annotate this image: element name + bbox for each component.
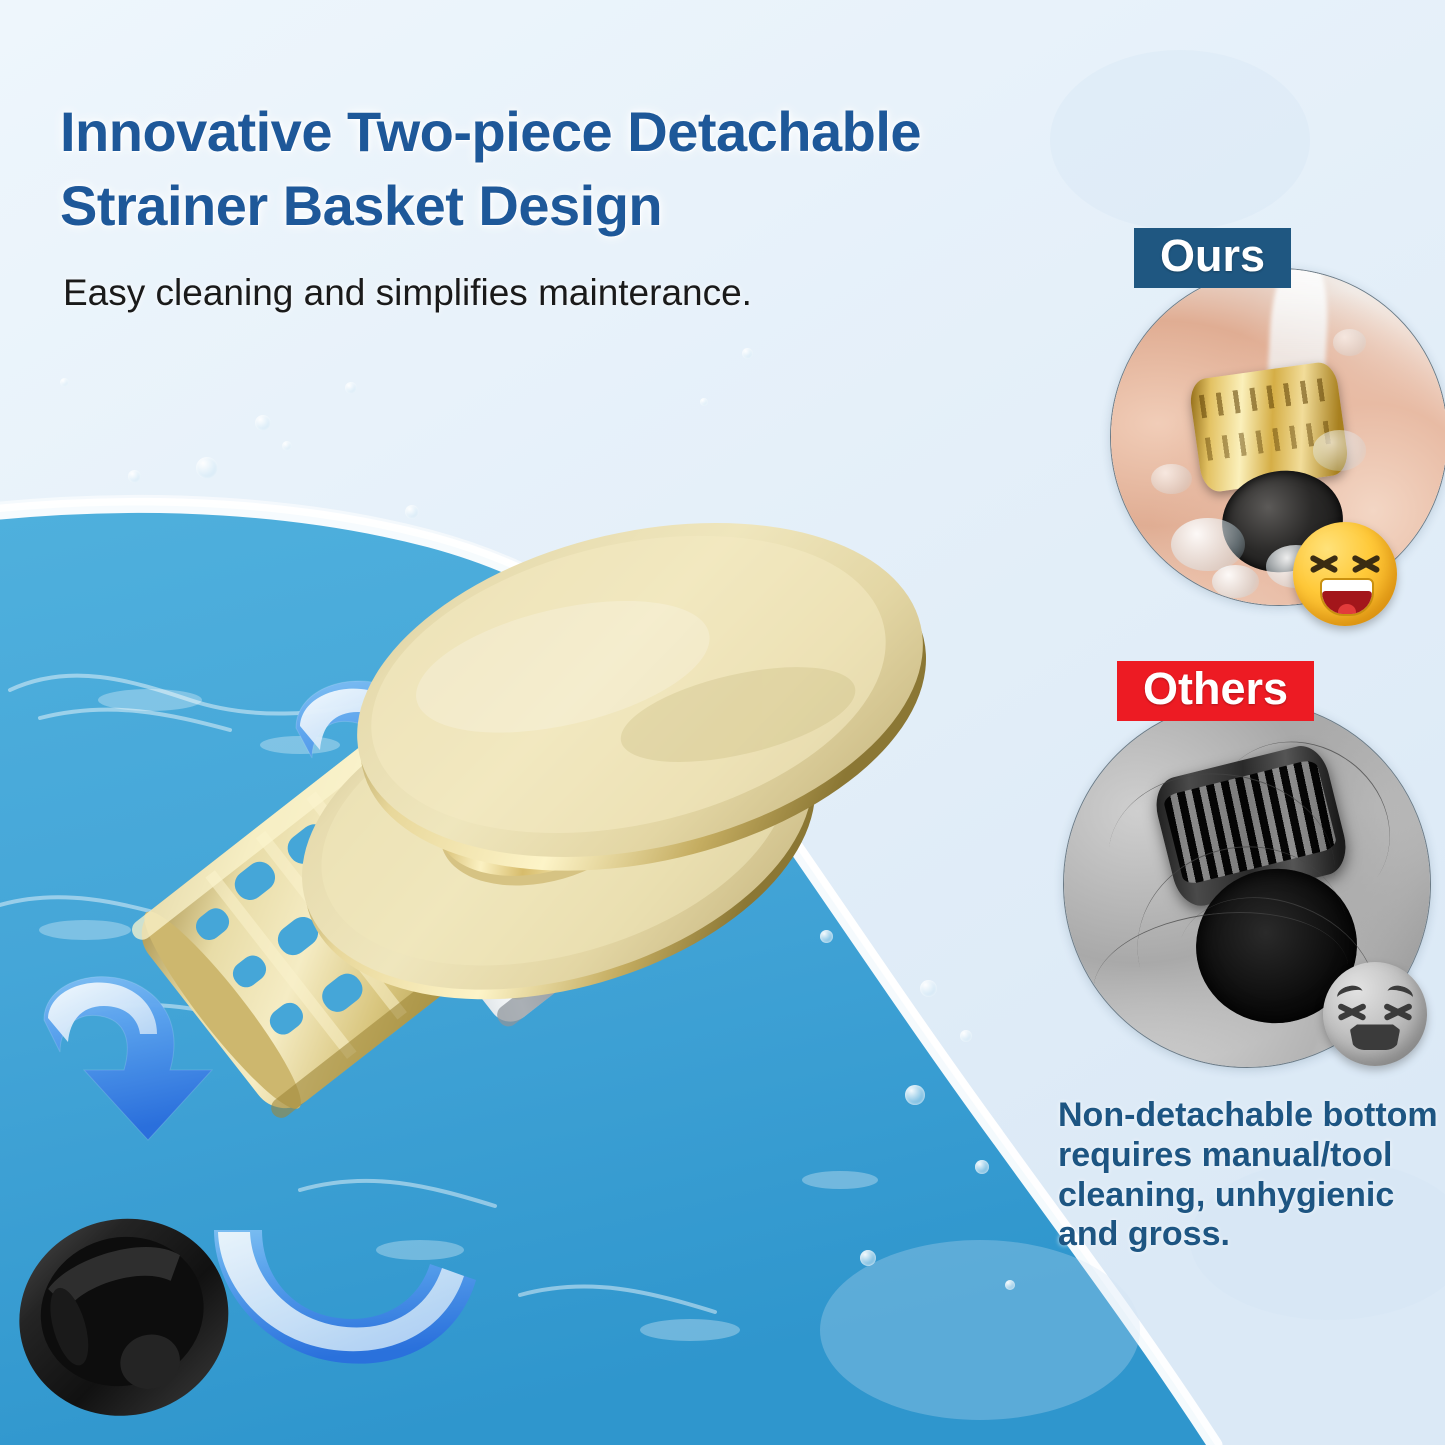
water-splash xyxy=(1151,464,1191,494)
product-assembly xyxy=(0,330,1090,1445)
water-splash xyxy=(1171,518,1245,572)
photo-ours xyxy=(1110,268,1445,606)
laughing-face-emoji xyxy=(1293,522,1397,626)
badge-ours: Ours xyxy=(1134,228,1291,288)
emoji-mouth xyxy=(1320,578,1374,616)
emoji-eye-left xyxy=(1309,552,1339,574)
emoji-eye-right xyxy=(1383,1000,1413,1022)
page-title: Innovative Two-piece Detachable Strainer… xyxy=(60,95,1180,243)
headline-line-2: Strainer Basket Design xyxy=(60,169,1180,243)
water-splash xyxy=(1313,430,1367,470)
water-splash xyxy=(1212,565,1259,599)
product-infographic: Innovative Two-piece Detachable Strainer… xyxy=(0,0,1445,1445)
rotation-arrow-bottom xyxy=(214,1230,476,1364)
page-subtitle: Easy cleaning and simplifies mainterance… xyxy=(63,272,1063,314)
product-illustration-svg xyxy=(0,330,1090,1445)
weary-face-emoji xyxy=(1323,962,1427,1066)
badge-others: Others xyxy=(1117,661,1314,721)
others-caption: Non-detachable bottom requires manual/to… xyxy=(1058,1096,1445,1255)
hand-rinsing-strainer-photo xyxy=(1111,269,1445,605)
emoji-eye-right xyxy=(1351,552,1381,574)
emoji-mouth xyxy=(1350,1024,1400,1050)
headline-line-1: Innovative Two-piece Detachable xyxy=(60,95,1180,169)
water-splash xyxy=(1333,329,1367,356)
emoji-eye-left xyxy=(1337,1000,1367,1022)
